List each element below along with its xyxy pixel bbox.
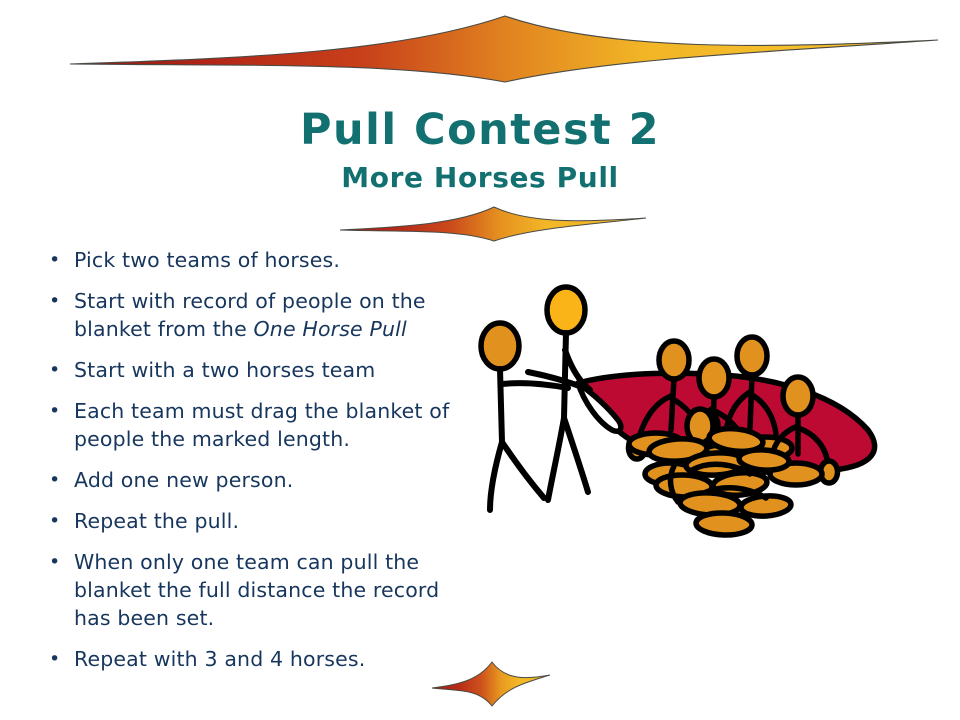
bullet-marker: • <box>40 466 74 494</box>
bullet-marker: • <box>40 507 74 535</box>
bullet-text-emphasis: One Horse Pull <box>254 317 407 341</box>
people-on-blanket-illustration <box>478 278 890 560</box>
bullet-text: Repeat with 3 and 4 horses. <box>74 645 365 673</box>
list-item: • Repeat with 3 and 4 horses. <box>40 645 482 673</box>
page-title: Pull Contest 2 <box>0 108 960 153</box>
list-item: • When only one team can pull the blanke… <box>40 548 482 632</box>
bullet-text: Each team must drag the blanket of peopl… <box>74 397 482 453</box>
top-banner-ornament <box>70 8 938 88</box>
bullet-text: Start with a two horses team <box>74 356 375 384</box>
bullet-text: Start with record of people on the blank… <box>74 287 482 343</box>
list-item: • Start with record of people on the bla… <box>40 287 482 343</box>
bottom-accent-ornament <box>432 658 550 720</box>
list-item: • Start with a two horses team <box>40 356 482 384</box>
page-subtitle: More Horses Pull <box>0 161 960 194</box>
bullet-marker: • <box>40 287 74 315</box>
bullet-marker: • <box>40 246 74 274</box>
list-item: • Each team must drag the blanket of peo… <box>40 397 482 453</box>
list-item: • Repeat the pull. <box>40 507 482 535</box>
bullet-marker: • <box>40 645 74 673</box>
bullet-text: Repeat the pull. <box>74 507 239 535</box>
list-item: • Pick two teams of horses. <box>40 246 482 274</box>
bullet-text: Add one new person. <box>74 466 293 494</box>
slide-canvas: Pull Contest 2 More Horses Pull • Pick t… <box>0 0 960 720</box>
bullet-marker: • <box>40 548 74 576</box>
bullet-marker: • <box>40 397 74 425</box>
bullet-text: Pick two teams of horses. <box>74 246 340 274</box>
bullet-marker: • <box>40 356 74 384</box>
title-block: Pull Contest 2 More Horses Pull <box>0 108 960 194</box>
middle-divider-ornament <box>340 203 646 245</box>
bullet-list: • Pick two teams of horses. • Start with… <box>40 246 482 686</box>
list-item: • Add one new person. <box>40 466 482 494</box>
bullet-text: When only one team can pull the blanket … <box>74 548 482 632</box>
puller-figure-front <box>481 323 568 510</box>
